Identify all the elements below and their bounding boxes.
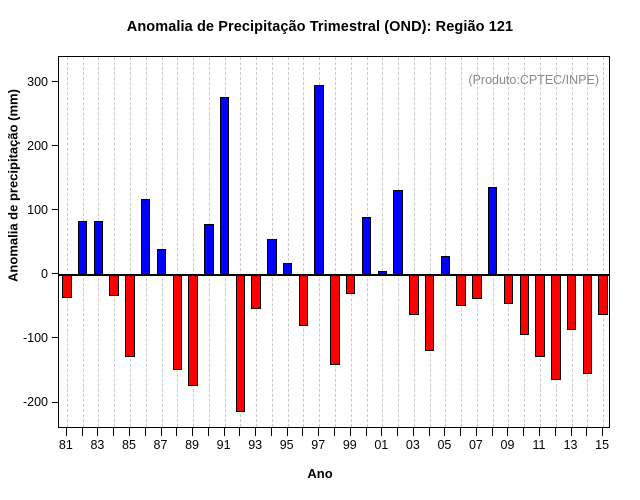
y-axis-tick-labels: -200-1000100200300 xyxy=(0,56,52,428)
bar-93 xyxy=(251,275,260,309)
x-tick-mark xyxy=(350,428,351,436)
bar-94 xyxy=(267,239,276,275)
x-tick-mark xyxy=(460,428,461,436)
bar-82 xyxy=(78,221,87,275)
x-tick-mark xyxy=(413,428,414,436)
x-tick-mark xyxy=(334,428,335,436)
x-tick-mark xyxy=(507,428,508,436)
plot-area: (Produto:CPTEC/INPE) xyxy=(58,56,610,428)
x-tick-mark xyxy=(555,428,556,436)
bar-10 xyxy=(520,275,529,335)
x-tick-label: 15 xyxy=(595,438,609,452)
bar-89 xyxy=(188,275,197,386)
bar-88 xyxy=(173,275,182,370)
x-tick-label: 95 xyxy=(280,438,294,452)
x-tick-mark xyxy=(145,428,146,436)
y-tick-label: -200 xyxy=(23,395,48,409)
x-tick-mark xyxy=(602,428,603,436)
x-tick-mark xyxy=(129,428,130,436)
x-tick-mark xyxy=(287,428,288,436)
x-tick-label: 85 xyxy=(122,438,136,452)
bar-01 xyxy=(378,271,387,275)
x-axis-ticks xyxy=(58,428,610,436)
x-tick-mark xyxy=(176,428,177,436)
chart-page: Anomalia de Precipitação Trimestral (OND… xyxy=(0,0,640,500)
x-axis-title: Ano xyxy=(0,466,640,481)
bar-83 xyxy=(94,221,103,276)
x-tick-label: 93 xyxy=(248,438,262,452)
x-tick-mark xyxy=(97,428,98,436)
y-tick-label: 0 xyxy=(41,267,48,281)
bar-00 xyxy=(362,217,371,275)
x-tick-mark xyxy=(318,428,319,436)
attribution-label: (Produto:CPTEC/INPE) xyxy=(468,73,599,87)
x-tick-mark xyxy=(429,428,430,436)
x-tick-mark xyxy=(586,428,587,436)
bar-13 xyxy=(567,275,576,330)
x-tick-label: 89 xyxy=(185,438,199,452)
x-tick-label: 97 xyxy=(311,438,325,452)
x-tick-mark xyxy=(255,428,256,436)
x-tick-mark xyxy=(113,428,114,436)
bar-95 xyxy=(283,263,292,275)
x-tick-mark xyxy=(224,428,225,436)
bar-15 xyxy=(598,275,607,315)
x-tick-label: 05 xyxy=(437,438,451,452)
x-tick-label: 11 xyxy=(533,438,546,452)
x-tick-label: 07 xyxy=(469,438,483,452)
x-tick-mark xyxy=(381,428,382,436)
x-tick-label: 99 xyxy=(343,438,357,452)
bar-12 xyxy=(551,275,560,380)
bar-02 xyxy=(393,190,402,275)
bar-99 xyxy=(346,275,355,294)
x-tick-mark xyxy=(66,428,67,436)
bar-84 xyxy=(109,275,118,296)
y-tick-label: -100 xyxy=(23,331,48,345)
x-tick-mark xyxy=(239,428,240,436)
bar-96 xyxy=(299,275,308,326)
x-tick-label: 09 xyxy=(501,438,515,452)
bar-06 xyxy=(456,275,465,306)
x-tick-mark xyxy=(523,428,524,436)
x-tick-mark xyxy=(208,428,209,436)
bar-90 xyxy=(204,224,213,275)
bar-05 xyxy=(441,256,450,275)
x-tick-mark xyxy=(397,428,398,436)
bar-04 xyxy=(425,275,434,351)
bar-07 xyxy=(472,275,481,299)
x-tick-label: 83 xyxy=(90,438,104,452)
x-tick-label: 91 xyxy=(217,438,231,452)
x-tick-label: 13 xyxy=(564,438,578,452)
bar-85 xyxy=(125,275,134,357)
x-tick-mark xyxy=(366,428,367,436)
bar-11 xyxy=(535,275,544,357)
y-tick-label: 200 xyxy=(27,139,48,153)
x-tick-mark xyxy=(161,428,162,436)
bar-97 xyxy=(314,85,323,275)
bar-14 xyxy=(583,275,592,374)
bar-92 xyxy=(236,275,245,412)
x-tick-label: 01 xyxy=(374,438,388,452)
bar-09 xyxy=(504,275,513,304)
x-tick-mark xyxy=(192,428,193,436)
bar-81 xyxy=(62,275,71,298)
bar-91 xyxy=(220,97,229,275)
bar-03 xyxy=(409,275,418,315)
x-tick-label: 03 xyxy=(406,438,420,452)
page-title: Anomalia de Precipitação Trimestral (OND… xyxy=(0,19,640,35)
bar-series xyxy=(59,57,609,427)
x-tick-mark xyxy=(539,428,540,436)
x-tick-mark xyxy=(302,428,303,436)
bar-98 xyxy=(330,275,339,365)
x-tick-mark xyxy=(444,428,445,436)
x-tick-mark xyxy=(271,428,272,436)
y-tick-label: 300 xyxy=(27,75,48,89)
x-tick-label: 87 xyxy=(154,438,168,452)
bar-08 xyxy=(488,187,497,275)
x-tick-mark xyxy=(476,428,477,436)
x-tick-label: 81 xyxy=(59,438,73,452)
y-tick-label: 100 xyxy=(27,203,48,217)
x-tick-mark xyxy=(492,428,493,436)
x-tick-mark xyxy=(82,428,83,436)
bar-86 xyxy=(141,199,150,275)
x-tick-mark xyxy=(571,428,572,436)
x-axis-tick-labels: 818385878991939597990103050709111315 xyxy=(58,438,610,456)
bar-87 xyxy=(157,249,166,275)
